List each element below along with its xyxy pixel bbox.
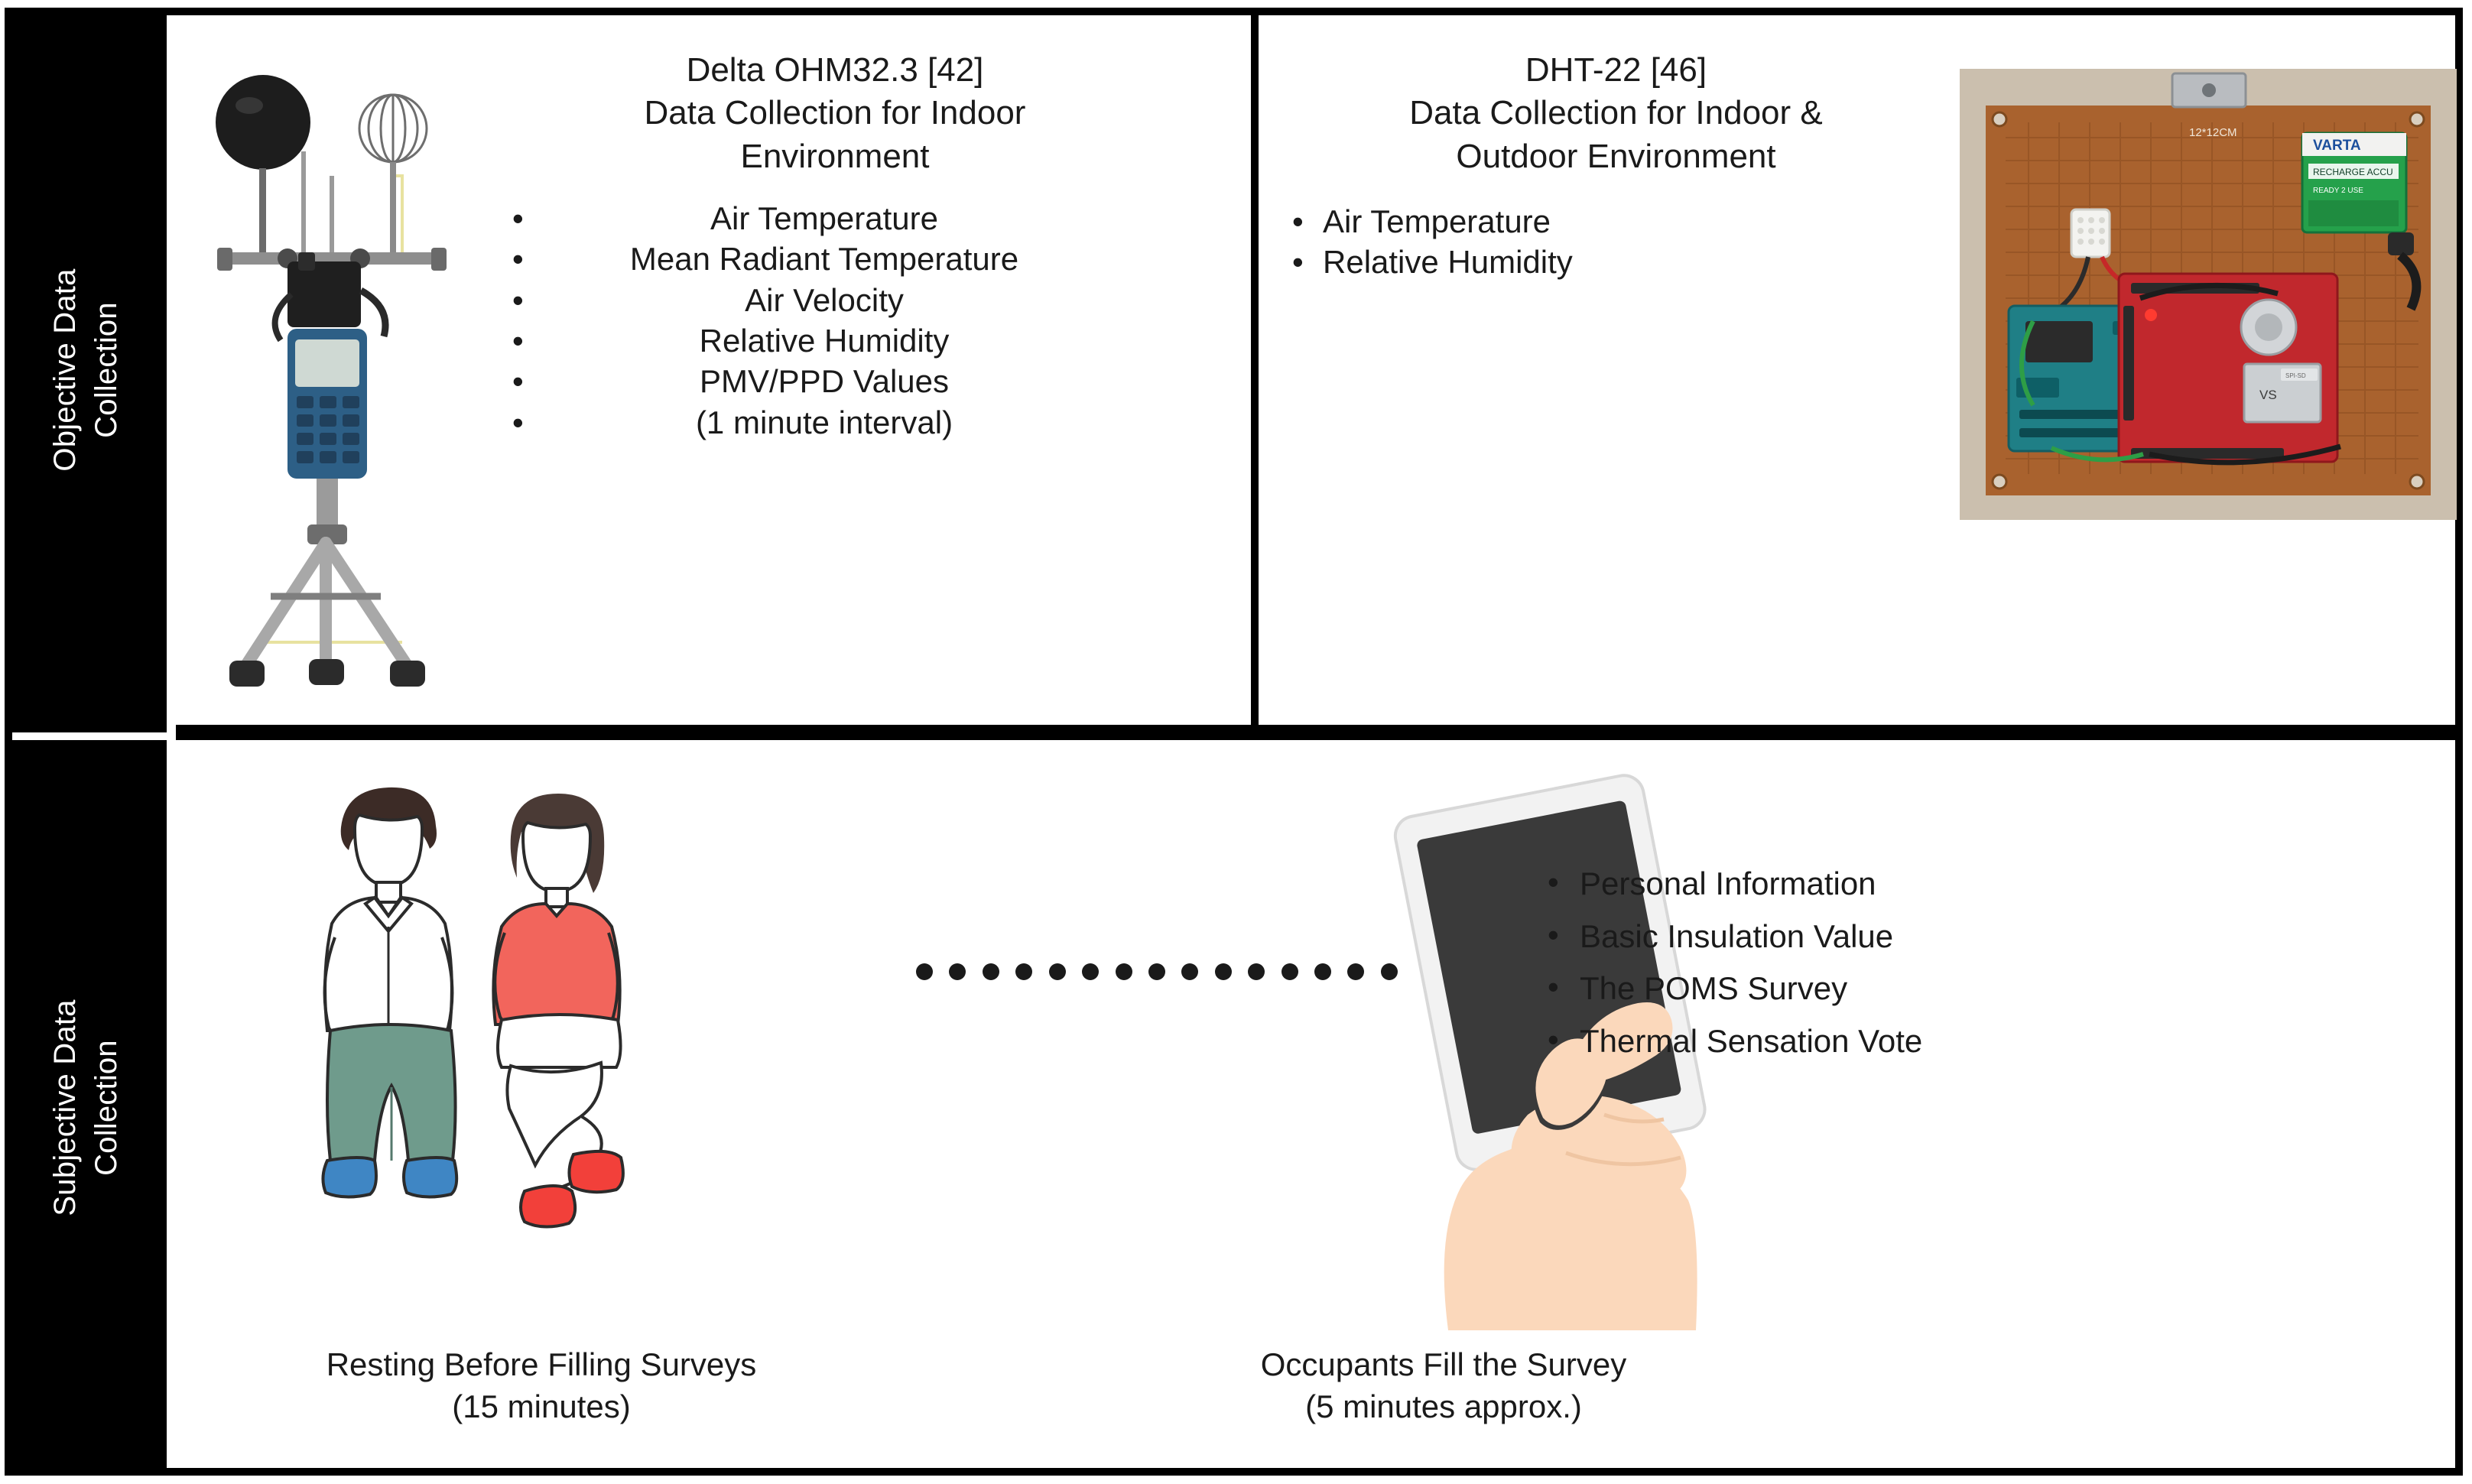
sidebar-subjective-data-collection: Subjective Data Collection — [5, 740, 167, 1476]
list-item: •Relative Humidity — [1286, 242, 1867, 282]
list-item: •Personal Information — [1543, 862, 1922, 906]
row-divider-notch — [167, 725, 176, 740]
list-item: •Thermal Sensation Vote — [1543, 1020, 1922, 1063]
list-item-label: Personal Information — [1580, 865, 1876, 901]
sidebar-objective-label-line1: Objective Data — [48, 268, 82, 471]
delta-ohm-bullet-list: •Air Temperature •Mean Radiant Temperatu… — [419, 198, 1230, 443]
two-seated-occupants-illustration — [281, 763, 771, 1329]
bullet-dot-icon: • — [512, 320, 524, 361]
bullet-dot-icon: • — [1292, 201, 1304, 242]
sidebar-subjective-label-line2: Collection — [89, 1040, 123, 1176]
list-item: •Basic Insulation Value — [1543, 915, 1922, 959]
connector-dot — [1248, 963, 1265, 980]
list-item-label: Mean Radiant Temperature — [630, 241, 1018, 277]
list-item-label: Relative Humidity — [1323, 244, 1573, 280]
bullet-dot-icon: • — [1548, 861, 1559, 904]
connector-dot — [1082, 963, 1099, 980]
connector-dot — [916, 963, 933, 980]
connector-dot — [1049, 963, 1066, 980]
connector-dot — [1015, 963, 1032, 980]
caption-survey-line2: (5 minutes approx.) — [1130, 1386, 1757, 1428]
caption-resting: Resting Before Filling Surveys (15 minut… — [213, 1344, 870, 1427]
svg-text:VS: VS — [2259, 388, 2277, 402]
sidebar-objective-data-collection: Objective Data Collection — [5, 8, 167, 732]
delta-ohm-title-line2: Data Collection for Indoor — [419, 92, 1251, 135]
list-item-label: Air Temperature — [710, 200, 938, 236]
column-divider — [1251, 8, 1259, 725]
list-item: •PMV/PPD Values — [419, 361, 1230, 401]
dht22-board-photo: 12*12CM VARTA RECHARGE ACCU READY 2 USE — [1960, 69, 2457, 520]
connector-dot — [1116, 963, 1132, 980]
list-item: •Mean Radiant Temperature — [419, 239, 1230, 279]
list-item: •Air Temperature — [1286, 201, 1867, 242]
dotted-connector — [916, 960, 1398, 983]
connector-dot — [1215, 963, 1232, 980]
bullet-dot-icon: • — [512, 280, 524, 320]
bullet-dot-icon: • — [1548, 966, 1559, 1009]
list-item: •(1 minute interval) — [419, 402, 1230, 443]
svg-text:SPI-SD: SPI-SD — [2285, 372, 2306, 379]
sidebar-objective-label-line2: Collection — [89, 302, 123, 438]
figure-root: Objective Data Collection Subjective Dat… — [0, 0, 2472, 1484]
row-divider — [167, 725, 2463, 740]
list-item-label: PMV/PPD Values — [700, 363, 949, 399]
sidebar-subjective-label-line1: Subjective Data — [48, 999, 82, 1216]
bullet-dot-icon: • — [1292, 242, 1304, 282]
bullet-dot-icon: • — [1548, 1018, 1559, 1062]
svg-text:12*12CM: 12*12CM — [2189, 126, 2237, 139]
svg-text:READY 2 USE: READY 2 USE — [2313, 187, 2363, 195]
connector-dot — [983, 963, 999, 980]
dht22-bullet-list: •Air Temperature •Relative Humidity — [1286, 201, 1867, 283]
list-item-label: Thermal Sensation Vote — [1580, 1023, 1922, 1059]
bullet-dot-icon: • — [512, 361, 524, 401]
list-item: •Air Velocity — [419, 280, 1230, 320]
connector-dot — [1314, 963, 1331, 980]
list-item-label: Basic Insulation Value — [1580, 918, 1893, 954]
svg-text:VARTA: VARTA — [2313, 138, 2361, 154]
list-item-label: The POMS Survey — [1580, 970, 1847, 1006]
connector-dot — [1347, 963, 1364, 980]
caption-survey-line1: Occupants Fill the Survey — [1130, 1344, 1757, 1386]
panel-dht22: DHT-22 [46] Data Collection for Indoor &… — [1259, 15, 2463, 725]
panel-delta-ohm: Delta OHM32.3 [42] Data Collection for I… — [167, 15, 1251, 725]
list-item-label: Relative Humidity — [700, 323, 950, 359]
caption-resting-line1: Resting Before Filling Surveys — [213, 1344, 870, 1386]
sidebar-objective-label: Objective Data Collection — [44, 268, 127, 471]
list-item-label: Air Temperature — [1323, 203, 1551, 239]
caption-survey: Occupants Fill the Survey (5 minutes app… — [1130, 1344, 1757, 1427]
connector-dot — [1181, 963, 1198, 980]
svg-text:RECHARGE ACCU: RECHARGE ACCU — [2313, 167, 2393, 177]
sidebar-subjective-label: Subjective Data Collection — [44, 999, 127, 1216]
bullet-dot-icon: • — [1548, 914, 1559, 957]
delta-ohm-title-line3: Environment — [419, 135, 1251, 178]
list-item: •Air Temperature — [419, 198, 1230, 239]
list-item-label: (1 minute interval) — [696, 404, 953, 440]
dht22-title-line2: Data Collection for Indoor & — [1259, 92, 1973, 135]
survey-content-bullet-list: •Personal Information •Basic Insulation … — [1543, 862, 1922, 1073]
list-item: •The POMS Survey — [1543, 967, 1922, 1011]
dht22-title-line1: DHT-22 [46] — [1259, 49, 1973, 92]
delta-ohm-title-line1: Delta OHM32.3 [42] — [419, 49, 1251, 92]
panel-subjective: Resting Before Filling Surveys (15 minut… — [167, 740, 2463, 1476]
list-item: •Relative Humidity — [419, 320, 1230, 361]
bullet-dot-icon: • — [512, 198, 524, 239]
caption-resting-line2: (15 minutes) — [213, 1386, 870, 1428]
bullet-dot-icon: • — [512, 402, 524, 443]
connector-dot — [949, 963, 966, 980]
connector-dot — [1281, 963, 1298, 980]
connector-dot — [1148, 963, 1165, 980]
dht22-title-line3: Outdoor Environment — [1259, 135, 1973, 178]
bullet-dot-icon: • — [512, 239, 524, 279]
list-item-label: Air Velocity — [745, 282, 904, 318]
